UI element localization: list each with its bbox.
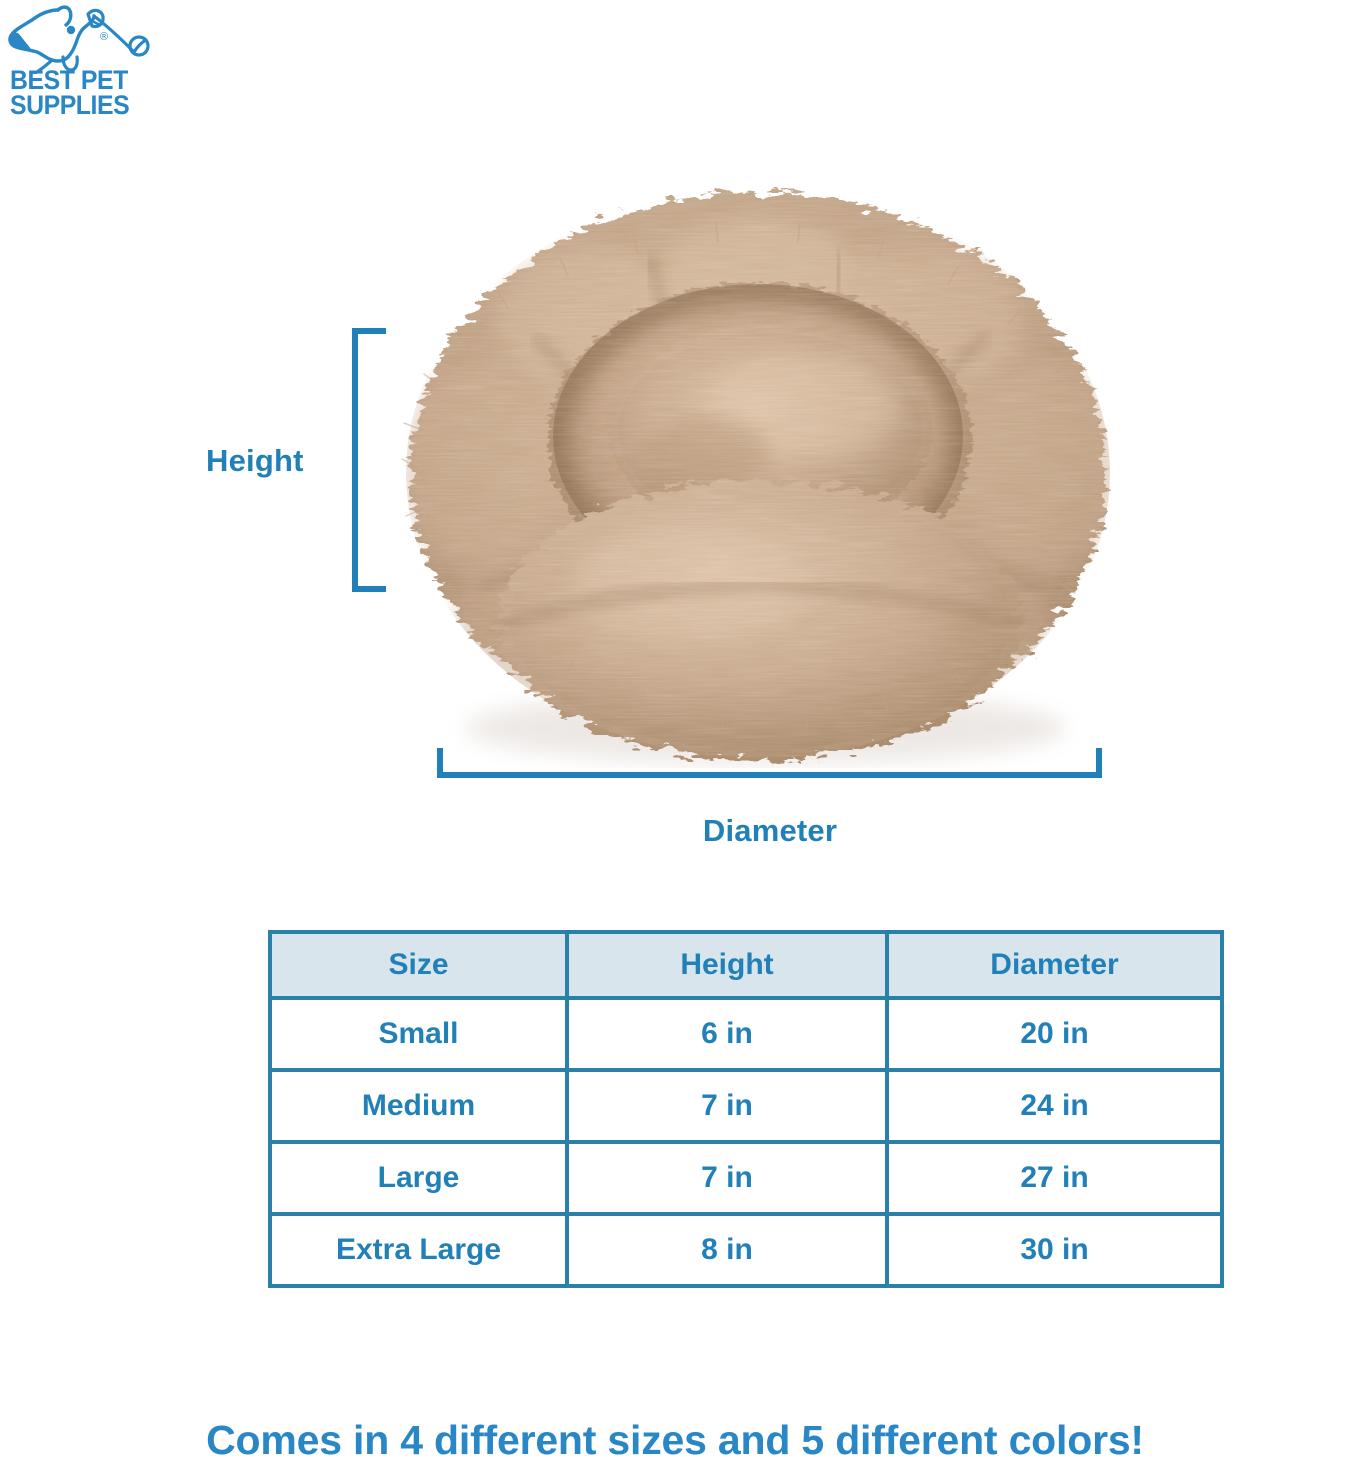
height-label: Height xyxy=(206,443,304,479)
table-row: Large 7 in 27 in xyxy=(270,1142,1222,1214)
column-header-height: Height xyxy=(567,932,887,998)
cell-size: Medium xyxy=(270,1070,567,1142)
table-header-row: Size Height Diameter xyxy=(270,932,1222,998)
cell-size: Large xyxy=(270,1142,567,1214)
table-row: Extra Large 8 in 30 in xyxy=(270,1214,1222,1286)
cell-diameter: 30 in xyxy=(887,1214,1222,1286)
brand-name-line2: SUPPLIES xyxy=(10,93,157,118)
brand-wordmark: BEST PET SUPPLIES xyxy=(10,68,170,118)
column-header-size: Size xyxy=(270,932,567,998)
size-chart-table: Size Height Diameter Small 6 in 20 in Me… xyxy=(268,930,1224,1288)
column-header-diameter: Diameter xyxy=(887,932,1222,998)
infographic-page: ® BEST PET SUPPLIES xyxy=(0,0,1350,1475)
cell-diameter: 24 in xyxy=(887,1070,1222,1142)
cell-height: 7 in xyxy=(567,1070,887,1142)
brand-logo: ® BEST PET SUPPLIES xyxy=(6,4,171,129)
cell-height: 8 in xyxy=(567,1214,887,1286)
table-row: Small 6 in 20 in xyxy=(270,998,1222,1070)
height-measurement-bracket xyxy=(352,328,386,592)
cell-diameter: 20 in xyxy=(887,998,1222,1070)
table-row: Medium 7 in 24 in xyxy=(270,1070,1222,1142)
cell-size: Extra Large xyxy=(270,1214,567,1286)
cell-height: 7 in xyxy=(567,1142,887,1214)
product-image-pet-bed xyxy=(388,168,1128,768)
footer-tagline: Comes in 4 different sizes and 5 differe… xyxy=(0,1417,1350,1464)
cell-diameter: 27 in xyxy=(887,1142,1222,1214)
cell-height: 6 in xyxy=(567,998,887,1070)
cell-size: Small xyxy=(270,998,567,1070)
plush-donut-bed-illustration xyxy=(388,168,1128,768)
diameter-measurement-bracket xyxy=(437,748,1102,778)
diameter-label: Diameter xyxy=(0,813,1350,849)
dog-logo-icon: ® xyxy=(6,4,166,74)
registered-trademark-icon: ® xyxy=(100,31,108,43)
